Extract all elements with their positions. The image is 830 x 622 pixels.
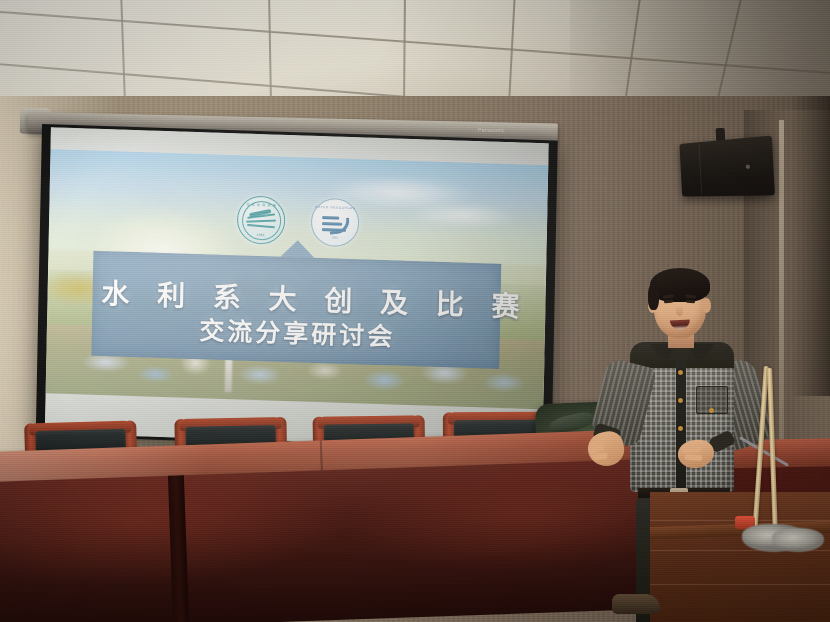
slide-campus-tower <box>225 358 233 392</box>
speaker-led-icon <box>746 165 750 169</box>
presenter-shoe <box>612 594 660 614</box>
projection-screen[interactable]: · 华 北 水 利 水 电 · 1951 WATER RESOURCES <box>36 124 558 453</box>
presentation-slide: · 华 北 水 利 水 电 · 1951 WATER RESOURCES <box>45 149 548 415</box>
wall-speaker <box>679 135 775 196</box>
wall-corner-shadow <box>790 96 830 396</box>
banner-notch-icon <box>280 240 314 258</box>
screen-surface: · 华 北 水 利 水 电 · 1951 WATER RESOURCES <box>45 127 549 449</box>
casing-brand-label: Panasonic <box>478 128 524 136</box>
wood-floor <box>650 492 830 622</box>
slide-title-banner: 水 利 系 大 创 及 比 赛 交流分享研讨会 <box>91 251 501 369</box>
presenter-hair <box>650 268 710 302</box>
seminar-room-photo: Panasonic · 华 北 水 利 水 电 · <box>0 0 830 622</box>
mop-head <box>772 528 824 552</box>
